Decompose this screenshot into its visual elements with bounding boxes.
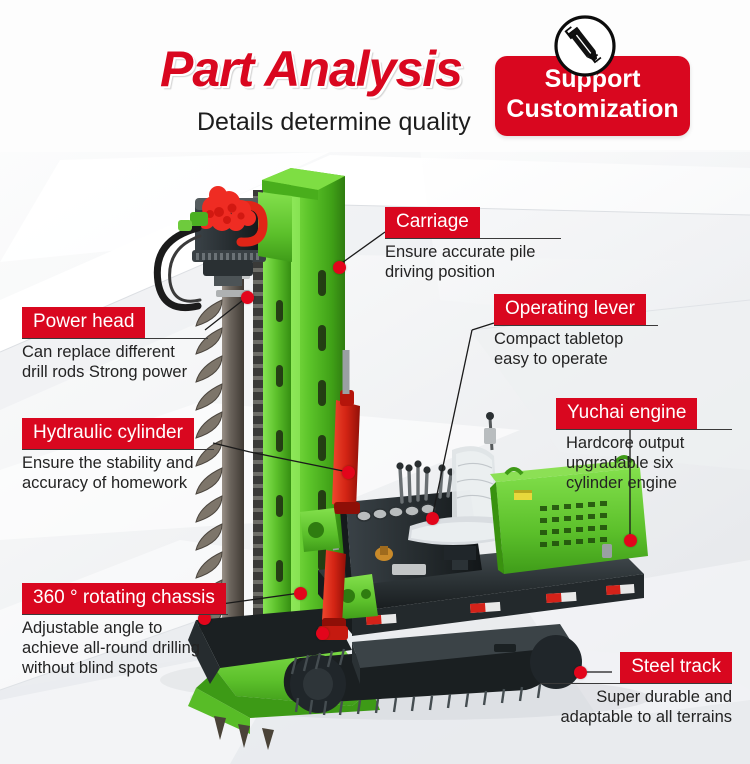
header: Part Analysis Details determine quality … bbox=[0, 0, 750, 150]
callout-operating-lever-description: Compact tabletop easy to operate bbox=[494, 326, 658, 369]
callout-yuchai-engine[interactable]: Yuchai engine Hardcore output upgradable… bbox=[556, 398, 732, 493]
badge-line-2: Customization bbox=[495, 95, 690, 124]
callout-rotating-chassis[interactable]: 360 ° rotating chassis Adjustable angle … bbox=[22, 583, 228, 678]
callout-operating-lever-caption: Operating lever bbox=[494, 294, 646, 325]
callout-hydraulic-cylinder-description: Ensure the stability and accuracy of hom… bbox=[22, 450, 214, 493]
callout-carriage-description: Ensure accurate pile driving position bbox=[385, 239, 561, 282]
callout-operating-lever[interactable]: Operating lever Compact tabletop easy to… bbox=[494, 294, 658, 369]
callout-yuchai-engine-caption: Yuchai engine bbox=[556, 398, 697, 429]
hotspot-dot-rotating-chassis bbox=[294, 587, 307, 600]
page-subtitle: Details determine quality bbox=[197, 108, 471, 137]
callout-carriage[interactable]: Carriage Ensure accurate pile driving po… bbox=[385, 207, 561, 282]
page-title: Part Analysis bbox=[160, 40, 462, 98]
callout-steel-track-caption: Steel track bbox=[620, 652, 732, 683]
callout-steel-track-description: Super durable and adaptable to all terra… bbox=[540, 684, 732, 727]
hotspot-dot-hydraulic-cylinder bbox=[342, 466, 355, 479]
callout-power-head-description: Can replace different drill rods Strong … bbox=[22, 339, 208, 382]
hotspot-dot-power-head bbox=[241, 291, 254, 304]
pencil-circle-stamp-icon: E E bbox=[553, 14, 617, 78]
callout-power-head-caption: Power head bbox=[22, 307, 145, 338]
callout-rotating-chassis-caption: 360 ° rotating chassis bbox=[22, 583, 226, 614]
callout-rotating-chassis-description: Adjustable angle to achieve all-round dr… bbox=[22, 615, 228, 678]
hotspot-dot-chassis-lower bbox=[316, 627, 329, 640]
hotspot-dot-carriage bbox=[333, 261, 346, 274]
callout-carriage-caption: Carriage bbox=[385, 207, 480, 238]
infographic-canvas: Part Analysis Details determine quality … bbox=[0, 0, 750, 764]
callout-hydraulic-cylinder-caption: Hydraulic cylinder bbox=[22, 418, 194, 449]
hotspot-dot-operating-lever bbox=[426, 512, 439, 525]
callout-hydraulic-cylinder[interactable]: Hydraulic cylinder Ensure the stability … bbox=[22, 418, 214, 493]
callout-power-head[interactable]: Power head Can replace different drill r… bbox=[22, 307, 208, 382]
hotspot-dot-yuchai-engine bbox=[624, 534, 637, 547]
callout-steel-track[interactable]: Steel track Super durable and adaptable … bbox=[540, 652, 732, 727]
callout-yuchai-engine-description: Hardcore output upgradable six cylinder … bbox=[556, 430, 732, 493]
